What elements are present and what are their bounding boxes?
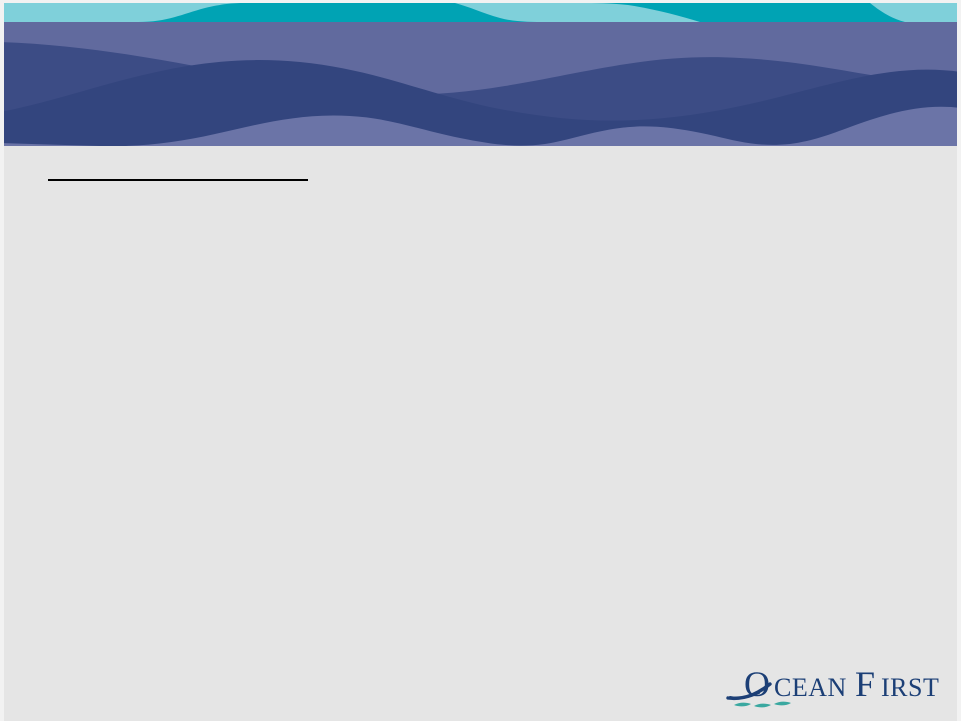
banner-top-margin	[0, 0, 961, 3]
page-title	[48, 150, 310, 176]
slide-title-placeholder[interactable]	[48, 150, 310, 184]
slide-content-placeholder[interactable]	[48, 200, 914, 620]
oceanfirst-logo-graphic: O CEAN F IRST	[726, 662, 954, 715]
oceanfirst-logo: O CEAN F IRST OceanFirst	[726, 662, 954, 715]
logo-wave-dash-3-icon	[774, 702, 791, 706]
title-underline-rule	[48, 179, 308, 181]
slide-canvas: O CEAN F IRST OceanFirst	[0, 0, 961, 721]
page-margin-left	[0, 0, 4, 721]
header-wave-banner	[0, 0, 961, 146]
page-margin-right	[957, 0, 961, 721]
logo-letter-f: F	[855, 664, 875, 704]
logo-wordmark-text: OceanFirst	[726, 715, 727, 716]
logo-letter-o: O	[744, 664, 770, 704]
logo-letters-irst: IRST	[881, 673, 939, 702]
logo-letters-cean: CEAN	[774, 673, 847, 702]
header-wave-graphic	[0, 0, 961, 146]
logo-wave-dash-2-icon	[754, 704, 771, 708]
